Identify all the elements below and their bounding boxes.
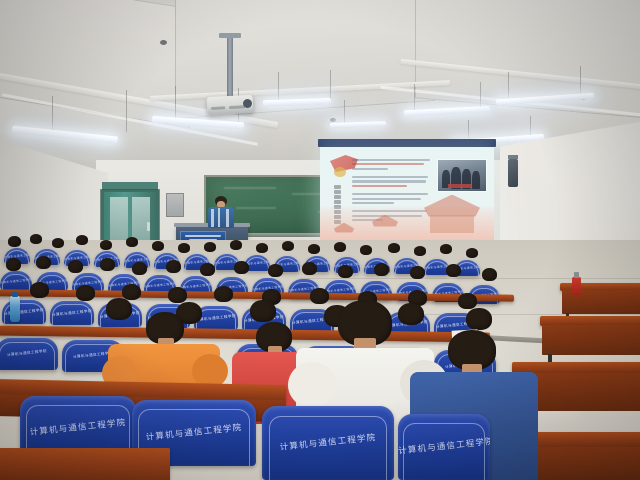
smoke-detector xyxy=(160,40,167,45)
lecture-desk-front xyxy=(542,325,640,355)
electrical-panel xyxy=(166,193,184,217)
fire-extinguisher xyxy=(572,277,581,295)
bottle-cap xyxy=(12,292,18,297)
auditorium-seat[interactable]: 计算机与通信工程学院 xyxy=(0,271,32,290)
auditorium-seat[interactable]: 计算机与通信工程学院 xyxy=(2,300,46,324)
presentation-slide xyxy=(320,147,494,243)
auditorium-seat-foreground[interactable]: 计算机与通信工程学院 xyxy=(262,406,394,480)
projector-mount-pole xyxy=(227,38,233,98)
projector-lens xyxy=(243,99,252,108)
lecture-hall-photo: 计算机与通信工程学院 计算机与通信工程学院 计算机与通信工程学院 计算机与通信工… xyxy=(0,0,640,480)
smoke-detector xyxy=(330,118,336,122)
fire-extinguisher-valve xyxy=(574,272,579,278)
screen-housing xyxy=(318,139,496,147)
lecture-desk-foreground xyxy=(0,448,170,480)
auditorium-seat-foreground[interactable]: 计算机与通信工程学院 xyxy=(398,414,490,480)
water-bottle[interactable] xyxy=(10,296,20,322)
projection-screen xyxy=(320,147,494,243)
presenter-body xyxy=(208,207,234,228)
wall-speaker xyxy=(508,159,518,187)
door-handle[interactable] xyxy=(147,222,150,231)
auditorium-seat[interactable]: 计算机与通信工程学院 xyxy=(0,338,58,370)
slide-photo xyxy=(438,160,486,191)
tiananmen-illustration xyxy=(320,207,494,243)
emblem-graphic xyxy=(334,167,346,177)
auditorium-seat[interactable]: 计算机与通信工程学院 xyxy=(50,301,94,325)
presenter xyxy=(206,196,236,228)
